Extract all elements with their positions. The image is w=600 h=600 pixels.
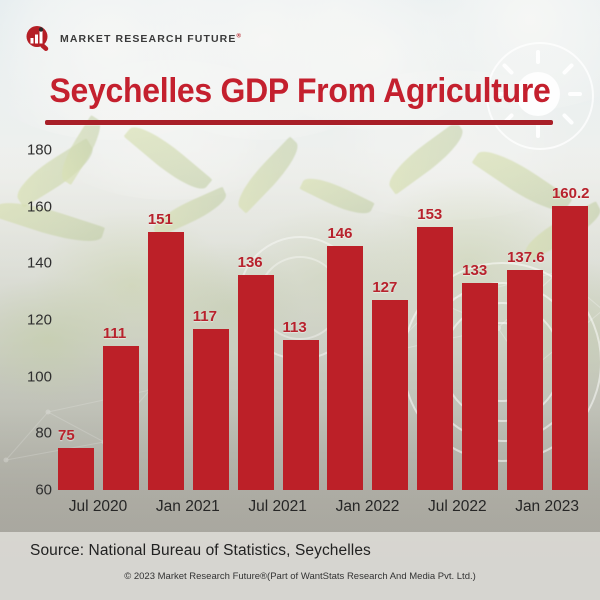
bar-rect[interactable] <box>283 340 319 490</box>
y-axis-tick: 100 <box>0 368 52 385</box>
x-axis-tick: Jan 2023 <box>515 498 579 516</box>
plot-area: 75111151117136113146127153133137.6160.2 <box>58 150 588 490</box>
bar-rect[interactable] <box>552 206 588 490</box>
brand-name: MARKET RESEARCH FUTURE® <box>60 33 242 45</box>
bar-rect[interactable] <box>462 283 498 490</box>
bar-column[interactable]: 133 <box>462 150 498 490</box>
y-axis-tick: 180 <box>0 142 52 159</box>
bar-series: 75111151117136113146127153133137.6160.2 <box>58 150 588 490</box>
x-axis-tick: Jan 2021 <box>156 498 220 516</box>
bar-rect[interactable] <box>58 448 94 491</box>
bar-chart: 1801601401201008060 75111151117136113146… <box>0 150 600 530</box>
x-axis-labels: Jul 2020Jan 2021Jul 2021Jan 2022Jul 2022… <box>58 498 588 524</box>
x-axis-tick: Jan 2022 <box>336 498 400 516</box>
bar-column[interactable]: 127 <box>372 150 408 490</box>
bar-value-label: 160.2 <box>552 185 590 202</box>
bar-rect[interactable] <box>103 346 139 491</box>
bar-rect[interactable] <box>148 232 184 490</box>
bar-value-label: 136 <box>238 254 263 271</box>
bar-value-label: 137.6 <box>507 249 545 266</box>
brand-logo[interactable]: MARKET RESEARCH FUTURE® <box>24 24 242 54</box>
bar-column[interactable]: 151 <box>148 150 184 490</box>
bar-value-label: 153 <box>417 206 442 223</box>
page-title: Seychelles GDP From Agriculture <box>18 72 582 111</box>
y-axis-labels: 1801601401201008060 <box>0 150 52 495</box>
registered-mark: ® <box>236 34 242 40</box>
bar-value-label: 127 <box>372 279 397 296</box>
brand-name-text: MARKET RESEARCH FUTURE <box>60 33 236 45</box>
y-axis-tick: 140 <box>0 255 52 272</box>
bar-value-label: 111 <box>103 325 126 342</box>
y-axis-tick: 80 <box>0 425 52 442</box>
bar-value-label: 113 <box>283 319 307 336</box>
bar-column[interactable]: 75 <box>58 150 94 490</box>
bar-column[interactable]: 111 <box>103 150 139 490</box>
bar-rect[interactable] <box>372 300 408 490</box>
bar-rect[interactable] <box>238 275 274 490</box>
x-axis-tick: Jul 2020 <box>69 498 128 516</box>
bar-column[interactable]: 113 <box>283 150 319 490</box>
x-axis-tick: Jul 2021 <box>248 498 307 516</box>
source-note: Source: National Bureau of Statistics, S… <box>30 542 371 560</box>
title-underline <box>45 120 553 125</box>
bar-value-label: 117 <box>193 308 217 325</box>
bar-value-label: 75 <box>58 427 75 444</box>
bar-value-label: 146 <box>327 225 352 242</box>
y-axis-tick: 160 <box>0 198 52 215</box>
bar-column[interactable]: 160.2 <box>552 150 588 490</box>
x-axis-tick: Jul 2022 <box>428 498 487 516</box>
copyright-note: © 2023 Market Research Future®(Part of W… <box>0 571 600 582</box>
bar-value-label: 133 <box>462 262 487 279</box>
bar-column[interactable]: 137.6 <box>507 150 543 490</box>
y-axis-tick: 60 <box>0 482 52 499</box>
infographic-canvas: MARKET RESEARCH FUTURE® Seychelles GDP F… <box>0 0 600 600</box>
magnifier-bar-chart-icon <box>24 24 54 54</box>
bar-rect[interactable] <box>417 227 453 491</box>
bar-column[interactable]: 117 <box>193 150 229 490</box>
bar-value-label: 151 <box>148 211 173 228</box>
bar-rect[interactable] <box>193 329 229 491</box>
y-axis-tick: 120 <box>0 312 52 329</box>
bar-column[interactable]: 136 <box>238 150 274 490</box>
bar-rect[interactable] <box>327 246 363 490</box>
bar-column[interactable]: 153 <box>417 150 453 490</box>
bar-column[interactable]: 146 <box>327 150 363 490</box>
bar-rect[interactable] <box>507 270 543 490</box>
